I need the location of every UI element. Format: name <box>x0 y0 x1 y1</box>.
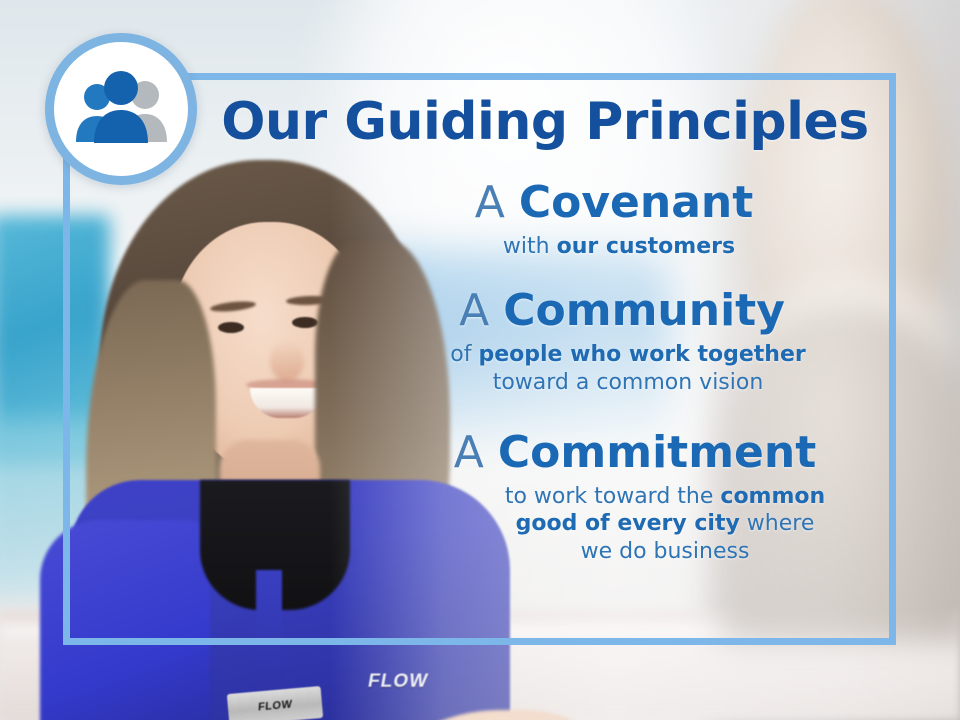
principle-description: of people who work together toward a com… <box>356 341 900 396</box>
principle-line: with our customers <box>338 233 900 261</box>
principle-keyword: Covenant <box>519 177 753 228</box>
principle-headline: A Commitment <box>370 430 900 476</box>
principle-text-bold: people who work together <box>478 342 805 367</box>
principle-text-bold: common <box>720 484 825 509</box>
principles-list: A Covenant with our customers A Communit… <box>300 180 900 579</box>
principle-text: where <box>740 511 815 536</box>
principle-headline: A Covenant <box>328 180 900 226</box>
principle-community: A Community of people who work together … <box>344 288 900 396</box>
principle-article: A <box>475 177 505 228</box>
principle-article: A <box>454 427 484 478</box>
principle-text: we do business <box>581 539 750 564</box>
principle-description: with our customers <box>338 233 900 261</box>
employee-name-badge-text: FLOW <box>258 698 293 713</box>
principle-text: to work toward the <box>505 484 721 509</box>
principle-line: of people who work together <box>356 341 900 369</box>
principle-description: to work toward the common good of every … <box>430 483 900 566</box>
principle-headline: A Community <box>344 288 900 334</box>
promo-banner: FLOW FLOW <box>0 0 960 720</box>
employee-nose <box>270 340 304 382</box>
principle-text: toward a common vision <box>493 370 764 395</box>
principle-line: toward a common vision <box>356 369 900 397</box>
employee-eye-left <box>218 322 244 333</box>
principle-text-bold: our customers <box>557 234 736 259</box>
principle-text: of <box>450 342 478 367</box>
employee-chest-logo: FLOW <box>366 671 430 693</box>
principle-covenant: A Covenant with our customers <box>328 180 900 260</box>
principle-keyword: Commitment <box>498 427 816 478</box>
principle-line: good of every city where <box>430 510 900 538</box>
page-title: Our Guiding Principles <box>0 92 960 152</box>
principle-line: we do business <box>430 538 900 566</box>
principle-line: to work toward the common <box>430 483 900 511</box>
principle-text: with <box>503 234 557 259</box>
principle-text-bold: good of every city <box>516 511 740 536</box>
employee-polo-sleeve <box>40 520 210 720</box>
principle-commitment: A Commitment to work toward the common g… <box>370 430 900 565</box>
principle-article: A <box>459 285 489 336</box>
principle-keyword: Community <box>503 285 785 336</box>
